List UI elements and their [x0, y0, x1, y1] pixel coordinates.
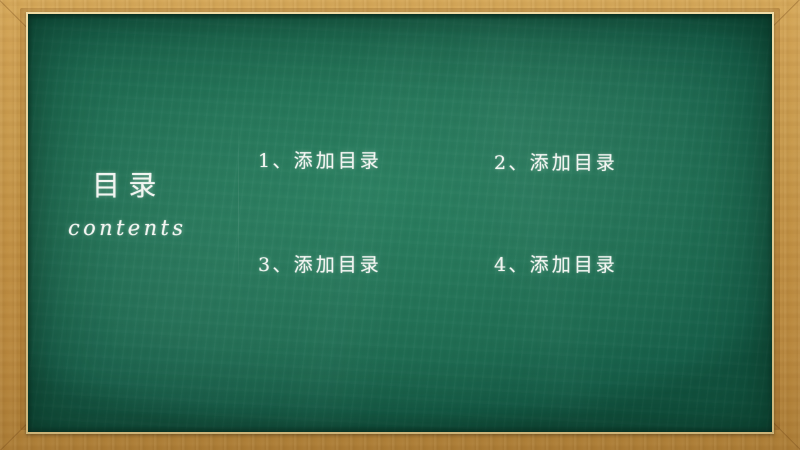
contents-item-2[interactable]: 2、添加目录 — [494, 148, 618, 175]
board-edge-shadow-left — [28, 14, 33, 432]
board-edge-shadow-top — [28, 14, 772, 20]
contents-item-1-label: 添加目录 — [294, 150, 382, 172]
contents-item-2-label: 添加目录 — [530, 152, 618, 174]
contents-list: 1、添加目录 2、添加目录 3、添加目录 4、添加目录 — [252, 146, 722, 286]
section-title-english: contents — [68, 216, 186, 240]
contents-item-4[interactable]: 4、添加目录 — [494, 250, 618, 277]
contents-item-1-number: 1、 — [258, 150, 294, 172]
contents-item-3[interactable]: 3、添加目录 — [258, 250, 382, 277]
contents-item-4-label: 添加目录 — [530, 254, 618, 276]
contents-item-3-number: 3、 — [258, 254, 294, 276]
slide-canvas: 目录 contents 1、添加目录 2、添加目录 3、添加目录 4、添加目录 — [0, 0, 800, 450]
contents-item-4-number: 4、 — [494, 254, 530, 276]
section-title-chinese: 目录 — [92, 164, 165, 204]
board-edge-shadow-right — [767, 14, 772, 432]
contents-item-3-label: 添加目录 — [294, 254, 382, 276]
contents-item-2-number: 2、 — [494, 152, 530, 174]
board-edge-shadow-bottom — [28, 426, 772, 432]
contents-item-1[interactable]: 1、添加目录 — [258, 146, 382, 173]
